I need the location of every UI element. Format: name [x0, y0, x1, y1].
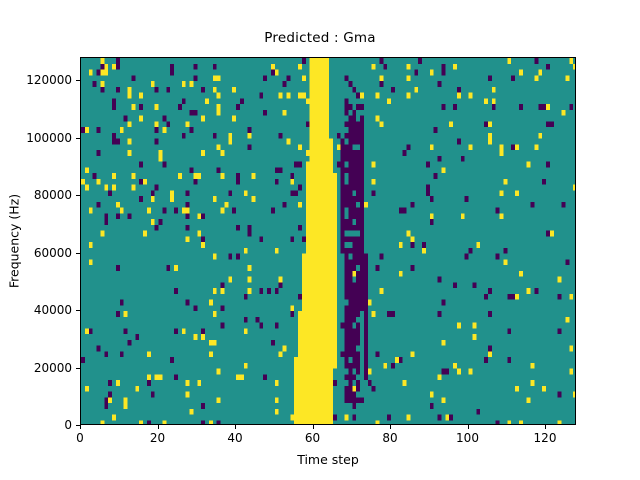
ytick-mark-60000 — [76, 253, 80, 254]
xtick-mark-20 — [158, 425, 159, 429]
matplotlib-figure: Predicted : Gma 0 20 40 60 80 100 120 0 … — [0, 0, 640, 480]
xtick-label: 20 — [150, 431, 165, 445]
heatmap-plot-area — [80, 57, 576, 425]
xtick-mark-0 — [80, 425, 81, 429]
heatmap-canvas — [81, 58, 576, 425]
xtick-label: 80 — [382, 431, 397, 445]
xtick-label: 0 — [76, 431, 84, 445]
xtick-label: 60 — [305, 431, 320, 445]
ytick-label: 60000 — [34, 246, 72, 260]
xtick-label: 120 — [534, 431, 557, 445]
xtick-mark-100 — [468, 425, 469, 429]
ytick-label: 100000 — [26, 131, 72, 145]
ytick-label: 0 — [64, 418, 72, 432]
xtick-mark-80 — [390, 425, 391, 429]
x-axis-label: Time step — [80, 452, 576, 467]
ytick-label: 80000 — [34, 188, 72, 202]
ytick-label: 20000 — [34, 361, 72, 375]
ytick-mark-120000 — [76, 80, 80, 81]
xtick-label: 40 — [227, 431, 242, 445]
y-axis-label: Frequency (Hz) — [7, 194, 22, 288]
xtick-mark-120 — [545, 425, 546, 429]
xtick-mark-60 — [313, 425, 314, 429]
ytick-mark-20000 — [76, 368, 80, 369]
xtick-label: 100 — [456, 431, 479, 445]
ytick-mark-0 — [76, 425, 80, 426]
page-title: Predicted : Gma — [0, 30, 640, 46]
ytick-label: 40000 — [34, 303, 72, 317]
ytick-label: 120000 — [26, 73, 72, 87]
ytick-mark-80000 — [76, 195, 80, 196]
ytick-mark-100000 — [76, 138, 80, 139]
ytick-mark-40000 — [76, 310, 80, 311]
xtick-mark-40 — [235, 425, 236, 429]
